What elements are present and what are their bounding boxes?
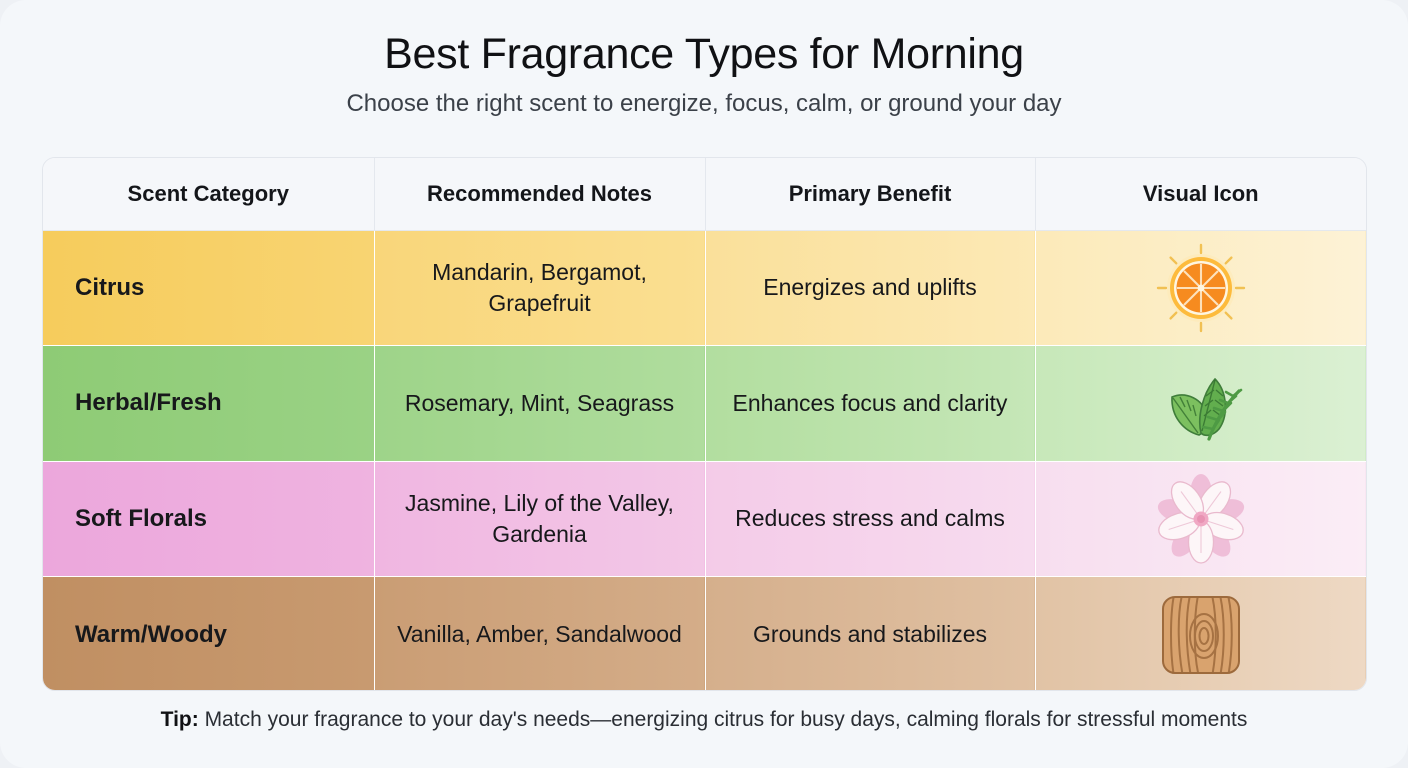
page-subtitle: Choose the right scent to energize, focu… [0,90,1408,119]
table-row: Warm/Woody Vanilla, Amber, Sandalwood Gr… [43,577,1366,692]
infographic-card: Best Fragrance Types for Morning Choose … [0,0,1408,768]
blossom-flower-icon [1154,473,1248,565]
cell-visual-icon [1035,461,1366,577]
cell-scent-category: Soft Florals [43,461,374,577]
orange-slice-icon [1155,242,1247,334]
table-header-row: Scent Category Recommended Notes Primary… [43,158,1366,230]
cell-primary-benefit: Reduces stress and calms [705,461,1035,577]
cell-recommended-notes: Rosemary, Mint, Seagrass [374,346,705,462]
cell-scent-category: Citrus [43,230,374,346]
cell-recommended-notes: Jasmine, Lily of the Valley, Gardenia [374,461,705,577]
cell-scent-category: Warm/Woody [43,577,374,692]
column-header-visual-icon: Visual Icon [1035,158,1366,230]
cell-primary-benefit: Enhances focus and clarity [705,346,1035,462]
cell-primary-benefit: Grounds and stabilizes [705,577,1035,692]
wood-block-icon [1157,591,1245,679]
cell-visual-icon [1035,230,1366,346]
tip-text: Match your fragrance to your day's needs… [199,708,1248,731]
table-row: Herbal/Fresh Rosemary, Mint, Seagrass En… [43,346,1366,462]
page-title: Best Fragrance Types for Morning [0,30,1408,79]
column-header-scent-category: Scent Category [43,158,374,230]
cell-visual-icon [1035,346,1366,462]
table-row: Citrus Mandarin, Bergamot, Grapefruit En… [43,230,1366,346]
column-header-recommended-notes: Recommended Notes [374,158,705,230]
column-header-primary-benefit: Primary Benefit [705,158,1035,230]
footer-tip: Tip: Match your fragrance to your day's … [0,708,1408,732]
header: Best Fragrance Types for Morning Choose … [0,0,1408,119]
table-row: Soft Florals Jasmine, Lily of the Valley… [43,461,1366,577]
fragrance-table: Scent Category Recommended Notes Primary… [42,157,1367,691]
cell-recommended-notes: Mandarin, Bergamot, Grapefruit [374,230,705,346]
cell-recommended-notes: Vanilla, Amber, Sandalwood [374,577,705,692]
tip-label: Tip: [161,708,199,731]
cell-scent-category: Herbal/Fresh [43,346,374,462]
cell-primary-benefit: Energizes and uplifts [705,230,1035,346]
herb-leaves-icon [1153,357,1249,449]
cell-visual-icon [1035,577,1366,692]
